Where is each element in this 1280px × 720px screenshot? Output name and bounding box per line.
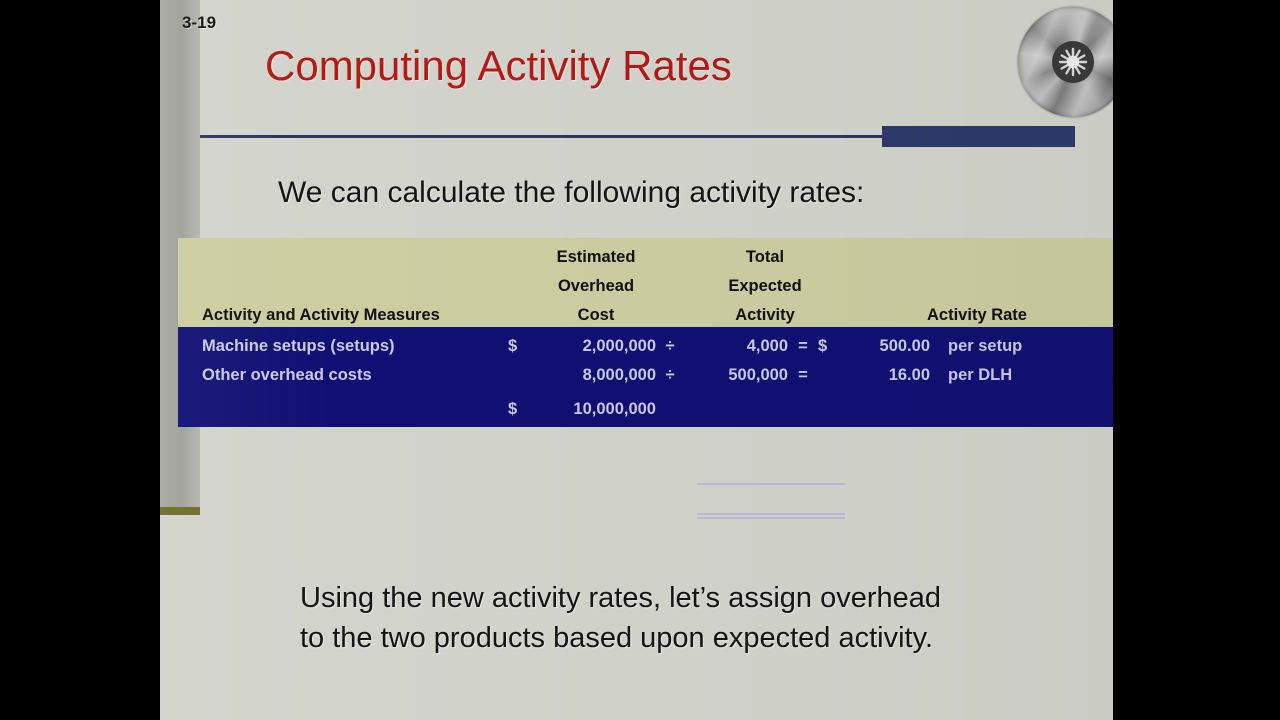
header-cost-line-2: Overhead	[508, 277, 684, 296]
header-divider-block	[882, 126, 1075, 147]
header-cost-line-3: Cost	[508, 306, 684, 325]
row-cost-currency: $	[508, 337, 534, 356]
total-unit-spacer	[930, 400, 1080, 419]
table-header-row-1: Estimated Total	[178, 238, 1113, 267]
row-activity: 500,000	[684, 366, 788, 385]
header-rate-spacer-2	[846, 277, 1108, 296]
total-rule-lower-b	[697, 517, 845, 519]
header-activity-line-1: Total	[684, 248, 846, 267]
compact-disc-icon	[1018, 7, 1113, 117]
activity-rates-table: Estimated Total Overhead Expected Activi…	[178, 238, 1113, 427]
total-cost: 10,000,000	[534, 400, 656, 419]
closing-line-2: to the two products based upon expected …	[300, 618, 941, 658]
row-rate-unit: per DLH	[930, 366, 1080, 385]
table-total-row: $ 10,000,000	[178, 385, 1113, 419]
closing-text: Using the new activity rates, let’s assi…	[300, 578, 941, 658]
row-divide-operator: ÷	[656, 366, 684, 385]
closing-line-1: Using the new activity rates, let’s assi…	[300, 578, 941, 618]
row-description: Machine setups (setups)	[178, 337, 508, 356]
row-activity: 4,000	[684, 337, 788, 356]
total-eq-spacer	[788, 400, 818, 419]
header-desc-spacer	[178, 248, 508, 267]
row-equals-operator: =	[788, 366, 818, 385]
header-desc-spacer-2	[178, 277, 508, 296]
presentation-slide: 3-19 Computing Activity Rates	[160, 0, 1113, 720]
screenshot-root: 3-19 Computing Activity Rates	[0, 0, 1280, 720]
subtotal-rule-top	[697, 483, 845, 485]
row-rate-currency: $	[818, 337, 840, 356]
total-currency: $	[508, 400, 534, 419]
total-description-spacer	[178, 400, 508, 419]
row-rate: 500.00	[840, 337, 930, 356]
row-rate-unit: per setup	[930, 337, 1080, 356]
table-body: Machine setups (setups) $ 2,000,000 ÷ 4,…	[178, 327, 1113, 427]
header-activity-line-3: Activity	[684, 306, 846, 325]
row-cost: 8,000,000	[534, 366, 656, 385]
header-activity-line-2: Expected	[684, 277, 846, 296]
total-activity-spacer	[684, 400, 788, 419]
disc-hub	[1052, 41, 1094, 83]
total-op-spacer	[656, 400, 684, 419]
page-title: Computing Activity Rates	[265, 42, 732, 90]
table-header-row-3: Activity and Activity Measures Cost Acti…	[178, 296, 1113, 325]
total-rule-lower-a	[697, 513, 845, 515]
row-rate: 16.00	[840, 366, 930, 385]
total-rate-spacer	[840, 400, 930, 419]
header-rate-spacer-1	[846, 248, 1108, 267]
row-cost: 2,000,000	[534, 337, 656, 356]
header-cost-line-1: Estimated	[508, 248, 684, 267]
row-equals-operator: =	[788, 337, 818, 356]
header-description: Activity and Activity Measures	[178, 306, 508, 325]
header-activity-rate: Activity Rate	[846, 306, 1108, 325]
row-description: Other overhead costs	[178, 366, 508, 385]
intro-text: We can calculate the following activity …	[278, 176, 864, 210]
table-header: Estimated Total Overhead Expected Activi…	[178, 238, 1113, 327]
row-divide-operator: ÷	[656, 337, 684, 356]
table-header-row-2: Overhead Expected	[178, 267, 1113, 296]
slide-number: 3-19	[182, 13, 216, 33]
slide-left-band-foot	[160, 507, 200, 515]
total-rate-currency-spacer	[818, 400, 840, 419]
table-row: Other overhead costs 8,000,000 ÷ 500,000…	[178, 356, 1113, 385]
table-row: Machine setups (setups) $ 2,000,000 ÷ 4,…	[178, 327, 1113, 356]
